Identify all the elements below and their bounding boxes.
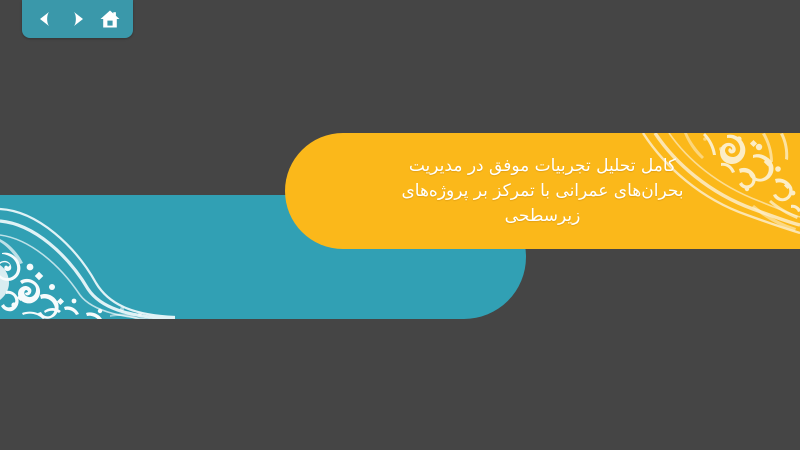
title-line-3: زیرسطحی — [505, 204, 581, 229]
home-icon — [99, 9, 121, 29]
triangle-left-icon — [35, 9, 55, 29]
arabesque-corner-ornament-teal — [0, 195, 175, 319]
forward-button[interactable] — [65, 6, 91, 32]
title-line-1: کامل تحلیل تجربیات موفق در مدیریت — [409, 154, 676, 179]
title-line-2: بحران‌های عمرانی با تمرکز بر پروژه‌های — [401, 179, 683, 204]
back-button[interactable] — [32, 6, 58, 32]
yellow-title-panel: کامل تحلیل تجربیات موفق در مدیریت بحران‌… — [285, 133, 800, 249]
navigation-bar[interactable] — [22, 0, 133, 38]
slide-canvas: کامل تحلیل تجربیات موفق در مدیریت بحران‌… — [0, 0, 800, 450]
home-button[interactable] — [97, 6, 123, 32]
triangle-right-icon — [68, 9, 88, 29]
slide-title: کامل تحلیل تجربیات موفق در مدیریت بحران‌… — [285, 133, 800, 249]
